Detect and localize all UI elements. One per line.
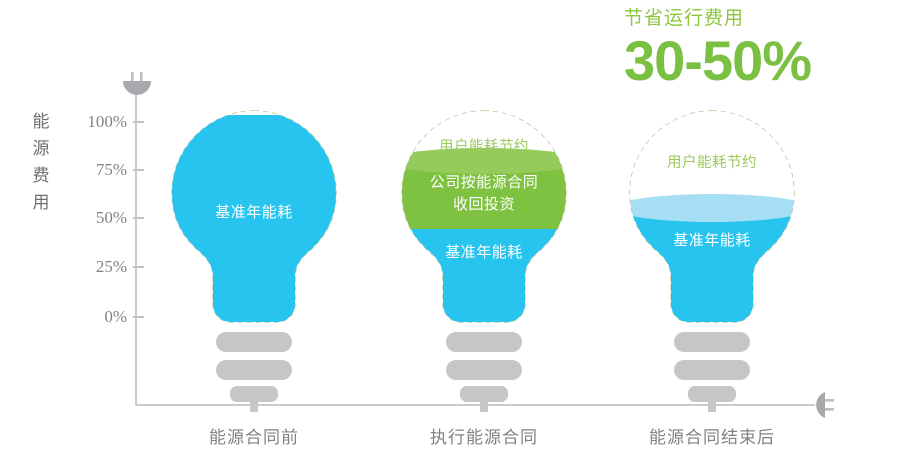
y-axis-title-char-4: 用 [28, 189, 54, 216]
bulb-1: 基准年能耗 [156, 104, 352, 334]
bulb-3-segment-cyan [614, 208, 810, 322]
bulb-2-segment-cyan [386, 229, 582, 322]
bulb-3-shape [614, 104, 810, 334]
plug-icon [122, 72, 152, 98]
headline-value: 30-50% [624, 32, 894, 90]
y-axis-title: 能 源 费 用 [28, 108, 54, 216]
y-axis-title-char-1: 能 [28, 108, 54, 135]
bulb-2-base [386, 330, 582, 412]
bulb-2-green-surface [386, 148, 582, 174]
bulb-group-1: 基准年能耗 [156, 104, 352, 434]
infographic-canvas: 节省运行费用 30-50% 能 源 费 用 100% 75% 50% 25% 0… [0, 0, 900, 473]
bulb-group-3: 用户能耗节约 基准年能耗 [614, 104, 810, 434]
x-axis-label-1: 能源合同前 [134, 423, 374, 448]
y-tick-mark-100 [133, 121, 144, 123]
y-tick-label-75: 75% [55, 160, 127, 180]
headline: 节省运行费用 30-50% [624, 6, 894, 90]
y-tick-mark-50 [133, 217, 144, 219]
y-axis-title-char-2: 源 [28, 135, 54, 162]
y-tick-mark-0 [133, 316, 144, 318]
bulb-group-2: 用户能耗节约 公司按能源合同 收回投资 基准年能耗 [386, 104, 582, 434]
bulb-3: 用户能耗节约 基准年能耗 [614, 104, 810, 334]
plug-icon [806, 390, 836, 420]
y-tick-mark-75 [133, 169, 144, 171]
y-tick-label-100: 100% [55, 112, 127, 132]
bulb-3-base [614, 330, 810, 412]
y-tick-label-0: 0% [55, 307, 127, 327]
bulb-2: 用户能耗节约 公司按能源合同 收回投资 基准年能耗 [386, 104, 582, 334]
x-axis-label-2: 执行能源合同 [364, 423, 604, 448]
bulb-1-shape [156, 104, 352, 334]
y-axis-title-char-3: 费 [28, 162, 54, 189]
y-tick-mark-25 [133, 266, 144, 268]
x-axis-label-3: 能源合同结束后 [592, 423, 832, 448]
bulb-1-segment-cyan [156, 115, 352, 322]
bulb-1-base [156, 330, 352, 412]
y-tick-label-25: 25% [55, 257, 127, 277]
y-axis-line [135, 88, 137, 406]
y-tick-label-50: 50% [55, 208, 127, 228]
bulb-3-liquid-surface [614, 194, 810, 222]
bulb-2-shape [386, 104, 582, 334]
